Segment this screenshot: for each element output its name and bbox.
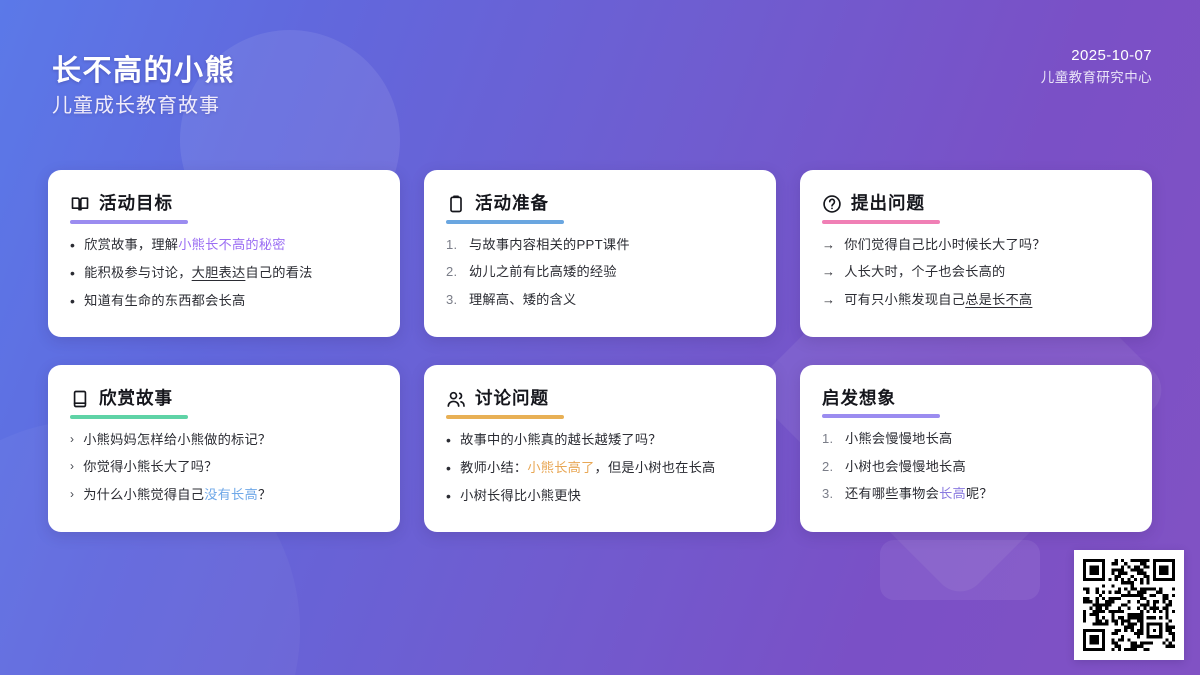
list-marker: › [70, 486, 74, 502]
header-organization: 儿童教育研究中心 [1041, 67, 1152, 89]
list-marker: • [446, 459, 451, 477]
list-marker: • [446, 431, 451, 449]
item-text-post: ？ [258, 487, 271, 502]
list-item-text: 欣赏故事，理解小熊长不高的秘密 [84, 236, 378, 254]
list-marker: › [70, 431, 74, 447]
decorative-rounded-rect [880, 540, 1040, 600]
list-item: •小树长得比小熊更快 [446, 487, 754, 505]
item-text-pre: 小树长得比小熊更快 [460, 488, 581, 503]
card-accent-rule [822, 414, 940, 418]
card-inspire-imagination: 启发想象1.小熊会慢慢地长高2.小树也会慢慢地长高3.还有哪些事物会长高呢？ [800, 365, 1152, 532]
card-item-list: •欣赏故事，理解小熊长不高的秘密•能积极参与讨论，大胆表达自己的看法•知道有生命… [70, 236, 378, 311]
list-item: ›为什么小熊觉得自己没有长高？ [70, 486, 378, 504]
page-subtitle: 儿童成长教育故事 [52, 89, 220, 118]
card-title: 提出问题 [851, 194, 925, 213]
header-date: 2025-10-07 [1041, 44, 1152, 67]
card-title: 启发想象 [822, 389, 896, 408]
card-title: 活动目标 [99, 194, 173, 213]
card-activity-goals: 活动目标•欣赏故事，理解小熊长不高的秘密•能积极参与讨论，大胆表达自己的看法•知… [48, 170, 400, 337]
item-text-pre: 能积极参与讨论， [84, 265, 192, 280]
list-item: 3.理解高、矮的含义 [446, 291, 754, 309]
card-accent-rule [446, 415, 564, 419]
list-item-text: 为什么小熊觉得自己没有长高？ [83, 486, 378, 504]
item-text-pre: 小熊妈妈怎样给小熊做的标记？ [83, 432, 271, 447]
card-accent-rule [822, 220, 940, 224]
clipboard-icon [446, 194, 466, 214]
item-text-pre: 故事中的小熊真的越长越矮了吗？ [460, 432, 662, 447]
question-circle-icon [822, 194, 842, 214]
list-marker: → [822, 236, 835, 254]
list-item-text: 知道有生命的东西都会长高 [84, 292, 378, 310]
qr-code[interactable] [1074, 550, 1184, 660]
closed-book-icon [70, 389, 90, 409]
list-item: 1.小熊会慢慢地长高 [822, 430, 1130, 448]
card-header: 活动准备 [446, 194, 754, 214]
item-text-post: ，但是小树也在长高 [595, 460, 716, 475]
slide-header: 长不高的小熊 儿童成长教育故事 2025-10-07 儿童教育研究中心 [0, 0, 1200, 150]
item-text-pre: 小熊会慢慢地长高 [845, 431, 953, 446]
list-item-text: 你觉得小熊长大了吗？ [83, 458, 378, 476]
item-text-highlight: 总是长不高 [965, 292, 1032, 307]
item-text-pre: 理解高、矮的含义 [469, 292, 577, 307]
list-item: •能积极参与讨论，大胆表达自己的看法 [70, 264, 378, 282]
card-item-list: •故事中的小熊真的越长越矮了吗？•教师小结：小熊长高了，但是小树也在长高•小树长… [446, 431, 754, 506]
list-marker: 2. [822, 458, 836, 476]
list-item: →人长大时，个子也会长高的 [822, 263, 1130, 281]
item-text-pre: 与故事内容相关的PPT课件 [469, 237, 630, 252]
list-item-text: 与故事内容相关的PPT课件 [469, 236, 754, 254]
card-title: 欣赏故事 [99, 389, 173, 408]
list-marker: • [70, 236, 75, 254]
slide-root: 长不高的小熊 儿童成长教育故事 2025-10-07 儿童教育研究中心 活动目标… [0, 0, 1200, 675]
list-marker: 1. [822, 430, 836, 448]
card-activity-preparation: 活动准备1.与故事内容相关的PPT课件2.幼儿之前有比高矮的经验3.理解高、矮的… [424, 170, 776, 337]
item-text-pre: 你觉得小熊长大了吗？ [83, 459, 217, 474]
list-item-text: 小熊妈妈怎样给小熊做的标记？ [83, 431, 378, 449]
card-header: 提出问题 [822, 194, 1130, 214]
list-item-text: 你们觉得自己比小时候长大了吗？ [844, 236, 1130, 254]
list-item: →可有只小熊发现自己总是长不高 [822, 291, 1130, 309]
item-text-pre: 还有哪些事物会 [845, 486, 939, 501]
list-item-text: 人长大时，个子也会长高的 [844, 263, 1130, 281]
item-text-pre: 幼儿之前有比高矮的经验 [469, 264, 617, 279]
list-item: •教师小结：小熊长高了，但是小树也在长高 [446, 459, 754, 477]
card-title: 讨论问题 [475, 389, 549, 408]
card-item-list: 1.与故事内容相关的PPT课件2.幼儿之前有比高矮的经验3.理解高、矮的含义 [446, 236, 754, 309]
card-item-list: ›小熊妈妈怎样给小熊做的标记？›你觉得小熊长大了吗？›为什么小熊觉得自己没有长高… [70, 431, 378, 504]
card-accent-rule [70, 415, 188, 419]
item-text-pre: 欣赏故事，理解 [84, 237, 178, 252]
list-item-text: 理解高、矮的含义 [469, 291, 754, 309]
list-item: 1.与故事内容相关的PPT课件 [446, 236, 754, 254]
list-item-text: 故事中的小熊真的越长越矮了吗？ [460, 431, 754, 449]
list-item-text: 能积极参与讨论，大胆表达自己的看法 [84, 264, 378, 282]
list-marker: • [446, 487, 451, 505]
list-marker: • [70, 264, 75, 282]
item-text-pre: 小树也会慢慢地长高 [845, 459, 966, 474]
list-item-text: 小树长得比小熊更快 [460, 487, 754, 505]
list-marker: 3. [822, 485, 836, 503]
card-header: 欣赏故事 [70, 389, 378, 409]
list-item-text: 小树也会慢慢地长高 [845, 458, 1130, 476]
card-header: 启发想象 [822, 389, 1130, 408]
card-accent-rule [70, 220, 188, 224]
list-item: ›你觉得小熊长大了吗？ [70, 458, 378, 476]
list-item-text: 还有哪些事物会长高呢？ [845, 485, 1130, 503]
item-text-pre: 知道有生命的东西都会长高 [84, 293, 245, 308]
list-item-text: 教师小结：小熊长高了，但是小树也在长高 [460, 459, 754, 477]
card-header: 讨论问题 [446, 389, 754, 409]
list-item: •欣赏故事，理解小熊长不高的秘密 [70, 236, 378, 254]
list-item: •故事中的小熊真的越长越矮了吗？ [446, 431, 754, 449]
list-item: ›小熊妈妈怎样给小熊做的标记？ [70, 431, 378, 449]
item-text-highlight: 小熊长高了 [527, 460, 594, 475]
item-text-pre: 你们觉得自己比小时候长大了吗？ [844, 237, 1046, 252]
list-item: 2.幼儿之前有比高矮的经验 [446, 263, 754, 281]
item-text-highlight: 小熊长不高的秘密 [178, 237, 286, 252]
card-grid: 活动目标•欣赏故事，理解小熊长不高的秘密•能积极参与讨论，大胆表达自己的看法•知… [48, 170, 1152, 532]
list-marker: 1. [446, 236, 460, 254]
list-marker: › [70, 458, 74, 474]
list-item: →你们觉得自己比小时候长大了吗？ [822, 236, 1130, 254]
list-marker: 3. [446, 291, 460, 309]
page-title: 长不高的小熊 [52, 47, 235, 89]
item-text-post: 呢？ [966, 486, 993, 501]
item-text-pre: 教师小结： [460, 460, 527, 475]
users-icon [446, 389, 466, 409]
card-item-list: →你们觉得自己比小时候长大了吗？→人长大时，个子也会长高的→可有只小熊发现自己总… [822, 236, 1130, 309]
list-item-text: 可有只小熊发现自己总是长不高 [844, 291, 1130, 309]
card-raise-questions: 提出问题→你们觉得自己比小时候长大了吗？→人长大时，个子也会长高的→可有只小熊发… [800, 170, 1152, 337]
item-text-pre: 人长大时，个子也会长高的 [844, 264, 1005, 279]
list-marker: → [822, 263, 835, 281]
item-text-highlight: 没有长高 [204, 487, 258, 502]
list-item: 2.小树也会慢慢地长高 [822, 458, 1130, 476]
card-item-list: 1.小熊会慢慢地长高2.小树也会慢慢地长高3.还有哪些事物会长高呢？ [822, 430, 1130, 503]
qr-code-image [1083, 559, 1175, 651]
card-discuss-questions: 讨论问题•故事中的小熊真的越长越矮了吗？•教师小结：小熊长高了，但是小树也在长高… [424, 365, 776, 532]
list-marker: • [70, 292, 75, 310]
list-item-text: 幼儿之前有比高矮的经验 [469, 263, 754, 281]
header-meta: 2025-10-07 儿童教育研究中心 [1041, 44, 1152, 89]
list-marker: 2. [446, 263, 460, 281]
card-enjoy-story: 欣赏故事›小熊妈妈怎样给小熊做的标记？›你觉得小熊长大了吗？›为什么小熊觉得自己… [48, 365, 400, 532]
list-item-text: 小熊会慢慢地长高 [845, 430, 1130, 448]
open-book-icon [70, 194, 90, 214]
list-item: 3.还有哪些事物会长高呢？ [822, 485, 1130, 503]
card-accent-rule [446, 220, 564, 224]
item-text-highlight: 大胆表达 [192, 265, 246, 280]
item-text-highlight: 长高 [939, 486, 966, 501]
item-text-pre: 为什么小熊觉得自己 [83, 487, 204, 502]
item-text-pre: 可有只小熊发现自己 [844, 292, 965, 307]
card-title: 活动准备 [475, 194, 549, 213]
item-text-post: 自己的看法 [245, 265, 312, 280]
list-marker: → [822, 291, 835, 309]
card-header: 活动目标 [70, 194, 378, 214]
list-item: •知道有生命的东西都会长高 [70, 292, 378, 310]
